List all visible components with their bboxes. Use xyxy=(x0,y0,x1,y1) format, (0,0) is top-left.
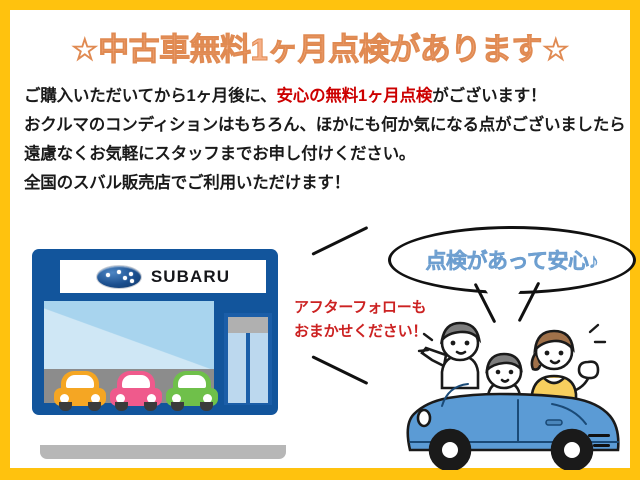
pointer-line-bottom xyxy=(311,355,368,385)
body-copy-line-1-prefix: ご購入いただいてから1ヶ月後に、 xyxy=(24,87,277,105)
showroom-illustration: SUBARU xyxy=(24,245,286,425)
speech-bubble-text: 点検があって安心♪ xyxy=(426,245,599,275)
body-copy-emphasis: 安心の無料1ヶ月点検 xyxy=(277,87,433,105)
page-title: ☆中古車無料1ヶ月点検があります☆ xyxy=(10,24,630,69)
body-copy-line-1: ご購入いただいてから1ヶ月後に、安心の無料1ヶ月点検がございます！ xyxy=(24,82,620,111)
body-copy-line-3: 遠慮なくお気軽にスタッフまでお申し付けください。 xyxy=(24,140,620,169)
showroom-pavement xyxy=(40,445,286,459)
brand-label: SUBARU xyxy=(151,267,230,287)
list-item xyxy=(54,371,106,411)
body-copy: ご購入いただいてから1ヶ月後に、安心の無料1ヶ月点検がございます！ おクルマのコ… xyxy=(24,82,620,198)
father-figure xyxy=(422,323,479,388)
showroom-facade: SUBARU xyxy=(32,249,278,297)
showroom-entrance-door xyxy=(224,313,272,405)
body-copy-line-4: 全国のスバル販売店でご利用いただけます！ xyxy=(24,169,620,198)
poster-content: ☆中古車無料1ヶ月点検があります☆ ご購入いただいてから1ヶ月後に、安心の無料1… xyxy=(10,10,630,468)
poster-root: ☆中古車無料1ヶ月点検があります☆ ご購入いただいてから1ヶ月後に、安心の無料1… xyxy=(0,0,640,480)
showroom-wall xyxy=(32,297,278,415)
pointer-line-top xyxy=(311,226,368,256)
body-copy-line-1-suffix: がございます！ xyxy=(432,87,546,105)
body-copy-line-2: おクルマのコンディションはもちろん、ほかにも何か気になる点がございましたら xyxy=(24,111,620,140)
list-item xyxy=(110,371,162,411)
subaru-logo: SUBARU xyxy=(60,260,266,293)
list-item xyxy=(166,371,218,411)
showroom-signboard: SUBARU xyxy=(60,260,266,293)
subaru-pleiades-oval-icon xyxy=(96,265,142,289)
